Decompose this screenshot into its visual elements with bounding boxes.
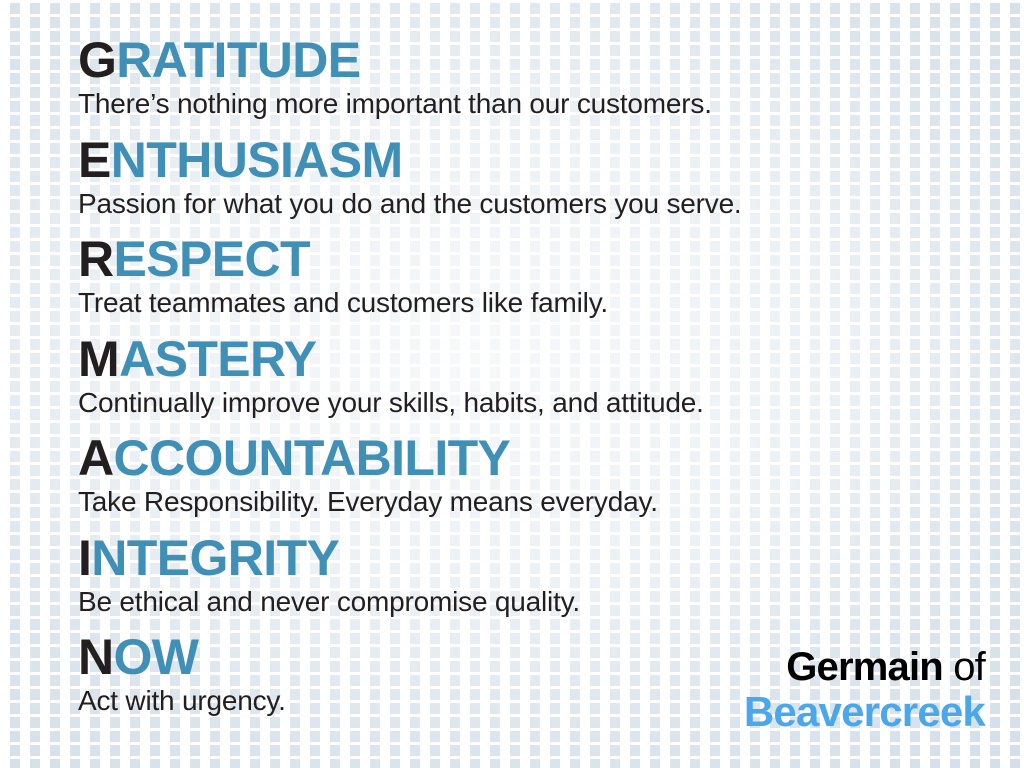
value-heading-accountability: ACCOUNTABILITY: [78, 431, 978, 485]
value-heading-integrity: INTEGRITY: [78, 531, 978, 585]
logo-location-name: Beavercreek: [744, 689, 985, 735]
poster-content: GRATITUDE There’s nothing more important…: [0, 0, 1024, 768]
value-word-remainder: OW: [114, 629, 199, 685]
value-item-enthusiasm: ENTHUSIASM Passion for what you do and t…: [78, 133, 978, 233]
value-description-gratitude: There’s nothing more important than our …: [78, 87, 978, 121]
value-item-mastery: MASTERY Continually improve your skills,…: [78, 332, 978, 432]
value-word-remainder: CCOUNTABILITY: [114, 430, 511, 486]
logo-line-primary: Germain of: [744, 645, 985, 689]
value-heading-respect: RESPECT: [78, 232, 978, 286]
value-item-gratitude: GRATITUDE There’s nothing more important…: [78, 33, 978, 133]
value-initial-letter: E: [78, 132, 111, 188]
dealership-logo: Germain of Beavercreek: [744, 645, 985, 735]
value-description-mastery: Continually improve your skills, habits,…: [78, 386, 978, 420]
value-description-accountability: Take Responsibility. Everyday means ever…: [78, 485, 978, 519]
value-description-enthusiasm: Passion for what you do and the customer…: [78, 187, 978, 221]
value-word-remainder: NTHUSIASM: [111, 132, 403, 188]
value-word-remainder: NTEGRITY: [91, 530, 339, 586]
logo-connector-word: of: [943, 645, 985, 689]
value-initial-letter: N: [78, 629, 114, 685]
logo-brand-name: Germain: [786, 645, 943, 689]
value-initial-letter: R: [78, 231, 114, 287]
value-initial-letter: M: [78, 331, 119, 387]
value-word-remainder: ASTERY: [119, 331, 316, 387]
value-item-respect: RESPECT Treat teammates and customers li…: [78, 232, 978, 332]
value-heading-mastery: MASTERY: [78, 332, 978, 386]
value-initial-letter: A: [78, 430, 114, 486]
core-values-poster: GRATITUDE There’s nothing more important…: [0, 0, 1024, 768]
values-list: GRATITUDE There’s nothing more important…: [78, 33, 978, 730]
value-item-integrity: INTEGRITY Be ethical and never compromis…: [78, 531, 978, 631]
value-word-remainder: ESPECT: [114, 231, 310, 287]
value-heading-enthusiasm: ENTHUSIASM: [78, 133, 978, 187]
value-heading-gratitude: GRATITUDE: [78, 33, 978, 87]
value-initial-letter: G: [78, 32, 116, 88]
value-description-integrity: Be ethical and never compromise quality.: [78, 585, 978, 619]
value-description-respect: Treat teammates and customers like famil…: [78, 286, 978, 320]
value-item-accountability: ACCOUNTABILITY Take Responsibility. Ever…: [78, 431, 978, 531]
value-word-remainder: RATITUDE: [116, 32, 360, 88]
value-initial-letter: I: [78, 530, 91, 586]
